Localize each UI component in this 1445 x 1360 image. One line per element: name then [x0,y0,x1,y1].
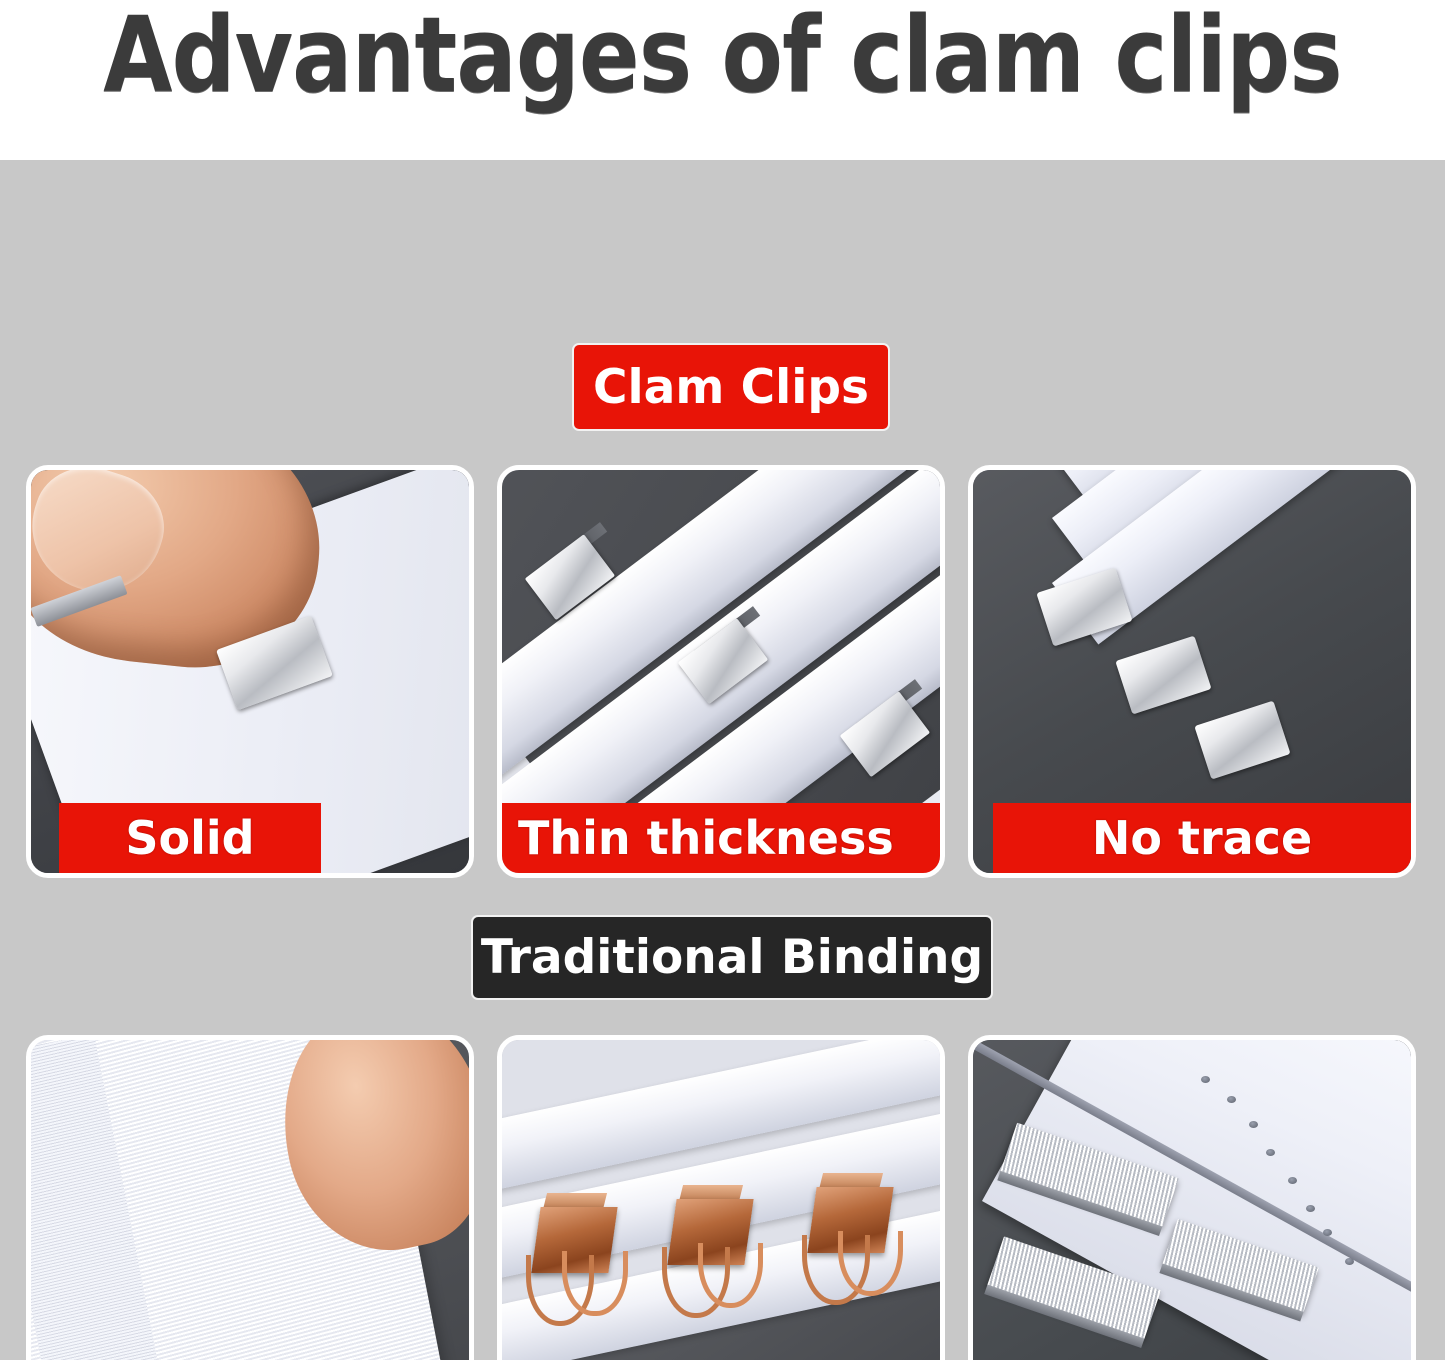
header: Advantages of clam clips [0,0,1445,160]
section-banner-clam-clips-label: Clam Clips [593,360,869,415]
photo-staple-hole [1249,1121,1258,1128]
photo-binder-clip [524,1193,625,1330]
panel-caption-no-trace-label: No trace [1092,811,1312,865]
infographic-root: Advantages of clam clips Clam Clips Trad… [0,0,1445,1360]
photo-staples-and-punched-paper [973,1040,1411,1360]
section-banner-clam-clips: Clam Clips [572,343,890,431]
panel-thin-thickness: Thin thickness [497,465,945,878]
photo-binder-clip [800,1173,901,1310]
section-banner-traditional-binding-label: Traditional Binding [481,930,983,985]
panel-caption-solid-label: Solid [125,811,254,865]
page-title: Advantages of clam clips [101,0,1344,116]
panel-caption-thin-thickness-label: Thin thickness [518,811,894,865]
panel-paper-breakage: Paper breakage [968,1035,1416,1360]
photo-binder-clips-on-paper [502,1040,940,1360]
panel-solid: Solid [26,465,474,878]
panel-caption-thin-thickness: Thin thickness [502,803,940,873]
photo-staple-hole [1345,1258,1354,1265]
photo-paperclip-on-stack [31,1040,469,1360]
photo-binder-clip [660,1185,761,1322]
section-banner-traditional-binding: Traditional Binding [471,915,993,1000]
panel-caption-no-trace: No trace [993,803,1411,873]
panel-thick: Thick [497,1035,945,1360]
content-stage: Clam Clips Traditional Binding Solid [0,160,1445,1360]
panel-not-strong: Not strong [26,1035,474,1360]
panel-caption-solid: Solid [59,803,321,873]
panel-no-trace: No trace [968,465,1416,878]
